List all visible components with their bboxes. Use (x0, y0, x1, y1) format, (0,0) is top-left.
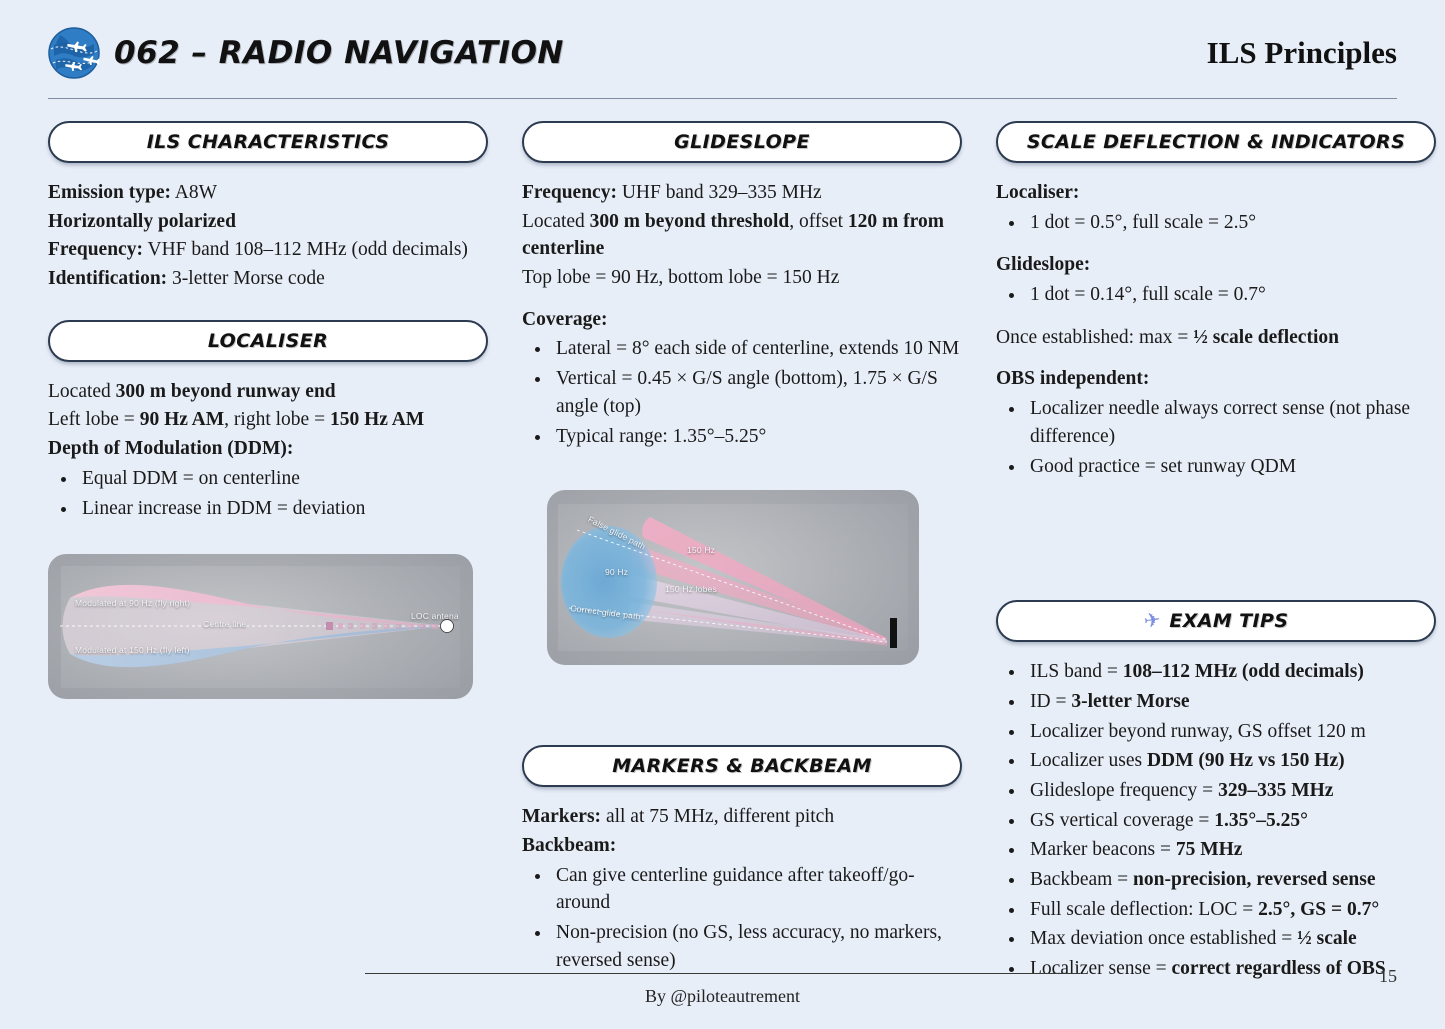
established-pre: Once established: max = (996, 327, 1193, 348)
localiser-beam-diagram: Modulated at 90 Hz (fly right) Centre li… (48, 554, 473, 699)
gs-freq-label: Frequency: (522, 182, 617, 203)
backbeam-line: Backbeam: (522, 832, 962, 860)
spacer (48, 294, 488, 320)
char-value-1: A8W (171, 182, 217, 203)
figure-label-top-lobe: Modulated at 90 Hz (fly right) (75, 598, 190, 608)
left-column: ILS CHARACTERISTICS Emission type: A8W H… (48, 121, 488, 699)
tip-pre: ID = (1030, 691, 1071, 712)
figure-label-150hz: 150 Hz (687, 545, 715, 555)
gs-line-3: Top lobe = 90 Hz, bottom lobe = 150 Hz (522, 264, 962, 292)
loc-line-1: Located 300 m beyond runway end (48, 378, 488, 406)
scale-deflection-body: Localiser: 1 dot = 0.5°, full scale = 2.… (996, 179, 1436, 480)
list-item: ILS band = 108–112 MHz (odd decimals) (1026, 658, 1436, 686)
char-line-4: Identification: 3-letter Morse code (48, 265, 488, 293)
glideslope-lobes-diagram: False glide path 90 Hz 150 Hz 150 Hz lob… (547, 490, 919, 665)
exam-tips-body: ILS band = 108–112 MHz (odd decimals) ID… (996, 658, 1436, 983)
loc-line2-bold2: 150 Hz AM (330, 409, 424, 430)
pill-label: SCALE DEFLECTION & INDICATORS (1027, 131, 1405, 153)
established-bold: ½ scale deflection (1193, 327, 1339, 348)
pill-label: GLIDESLOPE (674, 131, 810, 153)
page-number: 15 (1379, 966, 1397, 987)
course-title: 062 – RADIO NAVIGATION (114, 35, 564, 71)
slide-page: 062 – RADIO NAVIGATION ILS Principles IL… (0, 0, 1445, 1029)
figure-label-150hz-lobes: 150 Hz lobes (665, 584, 717, 594)
gs-coverage-label: Coverage: (522, 306, 962, 334)
loc-line-3: Depth of Modulation (DDM): (48, 435, 488, 463)
figure-label-centre-line: Centre line (203, 619, 246, 629)
tip-pre: ILS band = (1030, 661, 1123, 682)
char-label-2: Horizontally polarized (48, 211, 236, 232)
list-item: Can give centerline guidance after takeo… (552, 862, 962, 917)
obs-bullet-list: Localizer needle always correct sense (n… (996, 395, 1436, 480)
header-divider (48, 98, 1397, 99)
middle-column: GLIDESLOPE Frequency: UHF band 329–335 M… (522, 121, 962, 976)
tip-pre: Backbeam = (1030, 869, 1133, 890)
spacer (996, 238, 1436, 251)
list-item: Localizer beyond runway, GS offset 120 m (1026, 718, 1436, 746)
list-item: Backbeam = non-precision, reversed sense (1026, 866, 1436, 894)
loc-line-2: Left lobe = 90 Hz AM, right lobe = 150 H… (48, 406, 488, 434)
gs-line-1: Frequency: UHF band 329–335 MHz (522, 179, 962, 207)
airplane-icon: ✈ (1142, 610, 1161, 632)
coverage-bullet-list: Lateral = 8° each side of centerline, ex… (522, 335, 962, 450)
list-item: GS vertical coverage = 1.35°–5.25° (1026, 807, 1436, 835)
markers-value: all at 75 MHz, different pitch (601, 806, 834, 827)
glideslope-label: Glideslope: (996, 254, 1090, 275)
list-item: Lateral = 8° each side of centerline, ex… (552, 335, 962, 363)
page-header: 062 – RADIO NAVIGATION ILS Principles (48, 0, 1397, 92)
localiser-label: Localiser: (996, 182, 1079, 203)
obs-label: OBS independent: (996, 368, 1149, 389)
list-item: Max deviation once established = ½ scale (1026, 925, 1436, 953)
section-heading-markers-backbeam: MARKERS & BACKBEAM (522, 745, 962, 787)
spacer (996, 482, 1436, 600)
list-item: 1 dot = 0.5°, full scale = 2.5° (1026, 209, 1436, 237)
tip-bold: non-precision, reversed sense (1133, 869, 1375, 890)
obs-label-line: OBS independent: (996, 365, 1436, 393)
list-item: ID = 3-letter Morse (1026, 688, 1436, 716)
markers-line: Markers: all at 75 MHz, different pitch (522, 803, 962, 831)
topic-title: ILS Principles (1207, 35, 1397, 71)
list-item: Glideslope frequency = 329–335 MHz (1026, 777, 1436, 805)
backbeam-bullet-list: Can give centerline guidance after takeo… (522, 862, 962, 975)
tip-bold: 3-letter Morse (1071, 691, 1189, 712)
figure-label-loc-antenna: LOC antena (411, 611, 459, 621)
spacer (522, 665, 962, 745)
char-line-3: Frequency: VHF band 108–112 MHz (odd dec… (48, 236, 488, 264)
header-left-group: 062 – RADIO NAVIGATION (48, 27, 564, 79)
tip-bold: 75 MHz (1176, 839, 1243, 860)
backbeam-label: Backbeam: (522, 835, 616, 856)
spacer (996, 311, 1436, 324)
list-item: Linear increase in DDM = deviation (78, 495, 488, 523)
loc-line2-mid: , right lobe = (224, 409, 330, 430)
content-columns: ILS CHARACTERISTICS Emission type: A8W H… (48, 121, 1397, 985)
localiser-body: Located 300 m beyond runway end Left lob… (48, 378, 488, 522)
localiser-scale-list: 1 dot = 0.5°, full scale = 2.5° (996, 209, 1436, 237)
tip-pre: Full scale deflection: LOC = (1030, 899, 1258, 920)
loc-line1-pre: Located (48, 381, 116, 402)
scale-glideslope-label: Glideslope: (996, 251, 1436, 279)
scale-localiser-label: Localiser: (996, 179, 1436, 207)
footer-divider (365, 973, 1080, 974)
markers-label: Markers: (522, 806, 601, 827)
char-label-1: Emission type: (48, 182, 171, 203)
char-label-3: Frequency: (48, 239, 143, 260)
section-heading-exam-tips: ✈ EXAM TIPS (996, 600, 1436, 642)
established-line: Once established: max = ½ scale deflecti… (996, 324, 1436, 352)
char-label-4: Identification: (48, 268, 167, 289)
coverage-label: Coverage: (522, 309, 608, 330)
gs-freq-value: UHF band 329–335 MHz (617, 182, 822, 203)
list-item: Marker beacons = 75 MHz (1026, 836, 1436, 864)
spacer (996, 352, 1436, 365)
glideslope-scale-list: 1 dot = 0.14°, full scale = 0.7° (996, 281, 1436, 309)
pill-label: MARKERS & BACKBEAM (612, 755, 872, 777)
gs-line2-bold1: 300 m beyond threshold (590, 211, 790, 232)
tip-bold: 1.35°–5.25° (1214, 810, 1308, 831)
list-item: Full scale deflection: LOC = 2.5°, GS = … (1026, 896, 1436, 924)
loc-line2-pre: Left lobe = (48, 409, 140, 430)
figure-label-90hz: 90 Hz (605, 567, 628, 577)
tip-pre: Marker beacons = (1030, 839, 1176, 860)
list-item: Equal DDM = on centerline (78, 465, 488, 493)
list-item: Vertical = 0.45 × G/S angle (bottom), 1.… (552, 365, 962, 420)
list-item: Typical range: 1.35°–5.25° (552, 423, 962, 451)
char-line-1: Emission type: A8W (48, 179, 488, 207)
spacer (522, 293, 962, 306)
loc-line1-bold: 300 m beyond runway end (116, 381, 336, 402)
loc-line2-bold1: 90 Hz AM (140, 409, 224, 430)
pill-label: ILS CHARACTERISTICS (147, 131, 390, 153)
exam-tips-list: ILS band = 108–112 MHz (odd decimals) ID… (996, 658, 1436, 983)
tip-pre: Glideslope frequency = (1030, 780, 1218, 801)
tip-pre: GS vertical coverage = (1030, 810, 1214, 831)
pill-label: EXAM TIPS (1169, 610, 1288, 632)
footer-credit: By @piloteautrement (0, 986, 1445, 1007)
list-item: 1 dot = 0.14°, full scale = 0.7° (1026, 281, 1436, 309)
list-item: Localizer uses DDM (90 Hz vs 150 Hz) (1026, 747, 1436, 775)
list-item: Good practice = set runway QDM (1026, 453, 1436, 481)
section-heading-localiser: LOCALISER (48, 320, 488, 362)
tip-bold: 2.5°, GS = 0.7° (1258, 899, 1379, 920)
section-heading-glideslope: GLIDESLOPE (522, 121, 962, 163)
gs-line2-pre: Located (522, 211, 590, 232)
right-column: SCALE DEFLECTION & INDICATORS Localiser:… (996, 121, 1436, 985)
list-item: Localizer needle always correct sense (n… (1026, 395, 1436, 450)
tip-bold: ½ scale (1297, 928, 1357, 949)
char-line-2: Horizontally polarized (48, 208, 488, 236)
loc-ddm-label: Depth of Modulation (DDM): (48, 438, 293, 459)
glideslope-body: Frequency: UHF band 329–335 MHz Located … (522, 179, 962, 450)
tip-pre: Localizer beyond runway, GS offset 120 m (1030, 721, 1366, 742)
char-value-3: VHF band 108–112 MHz (odd decimals) (143, 239, 468, 260)
markers-backbeam-body: Markers: all at 75 MHz, different pitch … (522, 803, 962, 974)
gs-line-2: Located 300 m beyond threshold, offset 1… (522, 208, 962, 263)
char-value-4: 3-letter Morse code (167, 268, 325, 289)
globe-airplane-icon (48, 27, 100, 79)
glideslope-lobes-svg (547, 490, 919, 665)
section-heading-ils-characteristics: ILS CHARACTERISTICS (48, 121, 488, 163)
ils-characteristics-body: Emission type: A8W Horizontally polarize… (48, 179, 488, 293)
localiser-bullet-list: Equal DDM = on centerline Linear increas… (48, 465, 488, 522)
section-heading-scale-deflection: SCALE DEFLECTION & INDICATORS (996, 121, 1436, 163)
tip-bold: DDM (90 Hz vs 150 Hz) (1147, 750, 1345, 771)
list-item: Non-precision (no GS, less accuracy, no … (552, 919, 962, 974)
page-footer: By @piloteautrement (0, 973, 1445, 1007)
localiser-lobes-svg (48, 554, 473, 699)
tip-bold: 329–335 MHz (1218, 780, 1333, 801)
tip-pre: Max deviation once established = (1030, 928, 1297, 949)
tip-pre: Localizer uses (1030, 750, 1147, 771)
pill-label: LOCALISER (208, 330, 328, 352)
figure-label-bottom-lobe: Modulated at 150 Hz (fly left) (75, 645, 190, 655)
gs-line2-mid: , offset (789, 211, 848, 232)
tip-bold: 108–112 MHz (odd decimals) (1123, 661, 1364, 682)
